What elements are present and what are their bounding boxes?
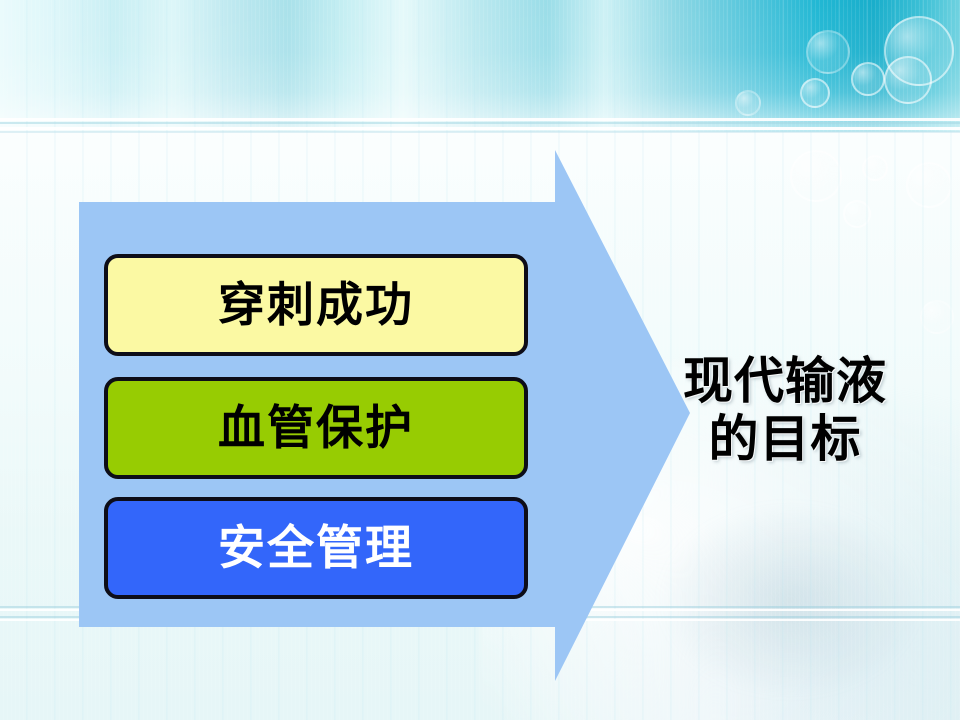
header-divider-line [0, 127, 960, 130]
process-box-vessel-protection[interactable]: 血管保护 [104, 377, 528, 479]
process-box-penetration-success[interactable]: 穿刺成功 [104, 254, 528, 356]
header-divider-line [0, 122, 960, 124]
header-divider-line [0, 118, 960, 121]
process-box-label: 安全管理 [218, 525, 414, 572]
footer-divider-line [0, 616, 960, 618]
footer-divider-line [0, 619, 960, 621]
goal-heading-line-2: 的目标 [640, 410, 930, 468]
presentation-slide: 穿刺成功 血管保护 安全管理 现代输液 的目标 [0, 0, 960, 720]
goal-heading-line-1: 现代输液 [640, 352, 930, 410]
footer-divider-line [0, 609, 960, 611]
process-box-label: 穿刺成功 [218, 282, 414, 329]
goal-heading: 现代输液 的目标 [640, 352, 930, 468]
footer-divider-line [0, 606, 960, 608]
process-box-safety-management[interactable]: 安全管理 [104, 497, 528, 599]
process-box-label: 血管保护 [218, 405, 414, 452]
header-divider-line [0, 131, 960, 133]
